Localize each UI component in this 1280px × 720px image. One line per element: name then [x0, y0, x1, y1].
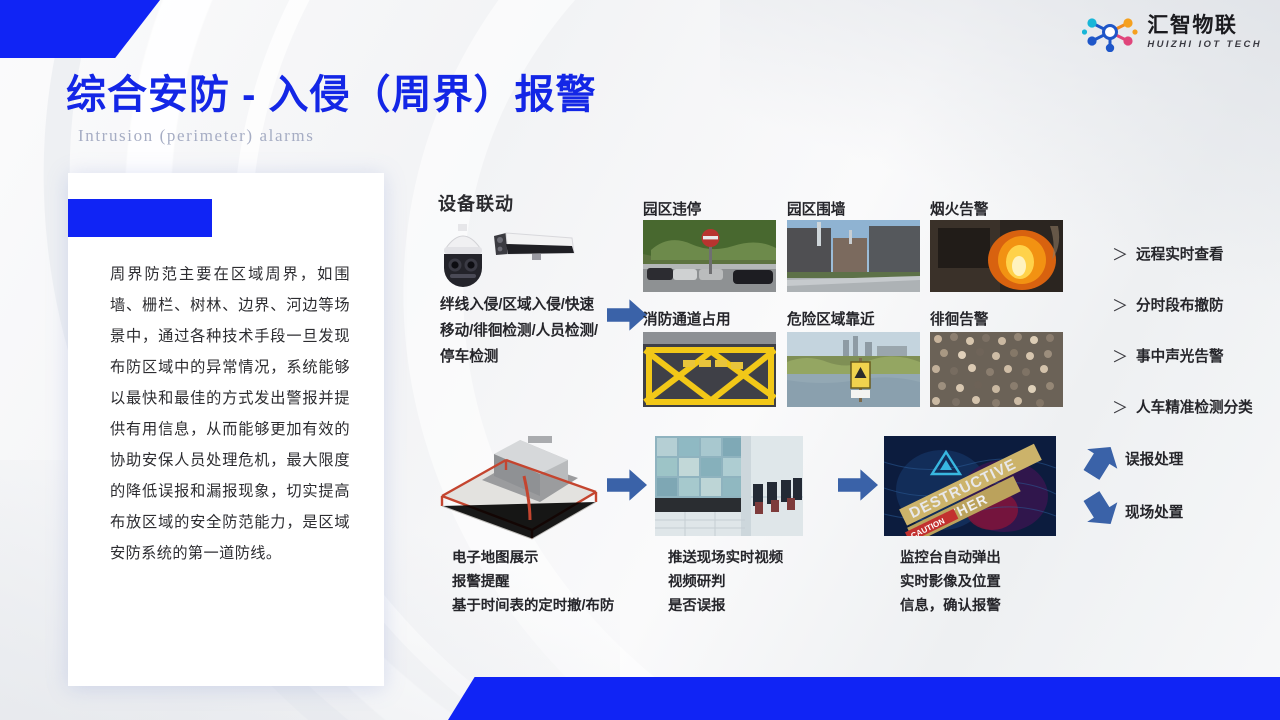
slide-canvas: 汇智物联 HUIZHI IOT TECH 综合安防 - 入侵（周界）报警 Int…	[0, 0, 1280, 720]
outcome-label-0: 误报处理	[1125, 448, 1183, 469]
device-caption: 绊线入侵/区域入侵/快速移动/徘徊检测/人员检测/停车检测	[440, 292, 606, 370]
page-subtitle: Intrusion (perimeter) alarms	[78, 126, 314, 146]
arrow-down-right-icon	[1077, 486, 1126, 534]
scenario-label-5: 徘徊告警	[930, 308, 988, 329]
chevron-right-icon: ＞	[1112, 343, 1136, 367]
scenario-image-3	[643, 332, 776, 407]
ptz-dome-camera-icon	[432, 222, 494, 300]
feature-label-2: 事中声光告警	[1136, 345, 1224, 366]
flow-arrow-right-icon	[607, 298, 647, 332]
bottom-accent-bar	[448, 677, 1280, 720]
chevron-right-icon: ＞	[1112, 292, 1136, 316]
feature-label-1: 分时段布撤防	[1136, 294, 1224, 315]
flow-caption-2: 监控台自动弹出 实时影像及位置 信息，确认报警	[900, 546, 1001, 618]
scenario-image-2	[930, 220, 1063, 292]
brand-name-en: HUIZHI IOT TECH	[1147, 40, 1262, 50]
device-section-title: 设备联动	[438, 190, 514, 216]
card-body-text: 周界防范主要在区域周界，如围墙、栅栏、树林、边界、河边等场景中，通过各种技术手段…	[110, 259, 350, 569]
page-title: 综合安防 - 入侵（周界）报警	[66, 62, 597, 120]
feature-label-0: 远程实时查看	[1136, 243, 1224, 264]
scenario-image-4	[787, 332, 920, 407]
scenario-image-0	[643, 220, 776, 292]
flow-caption-1: 推送现场实时视频 视频研判 是否误报	[668, 546, 783, 618]
scenario-image-5	[930, 332, 1063, 407]
chevron-right-icon: ＞	[1112, 241, 1136, 265]
feature-item-0[interactable]: ＞ 远程实时查看	[1112, 236, 1253, 270]
scenario-label-1: 园区围墙	[787, 198, 845, 219]
feature-item-2[interactable]: ＞ 事中声光告警	[1112, 338, 1253, 372]
flow-image-0	[428, 424, 608, 542]
feature-item-1[interactable]: ＞ 分时段布撤防	[1112, 287, 1253, 321]
brand-name-cn: 汇智物联	[1147, 15, 1262, 36]
flow-image-1	[655, 436, 803, 536]
feature-list: ＞ 远程实时查看 ＞ 分时段布撤防 ＞ 事中声光告警 ＞ 人车精准检测分类	[1112, 236, 1253, 440]
bullet-camera-icon	[488, 228, 584, 262]
scenario-label-2: 烟火告警	[930, 198, 988, 219]
scenario-label-3: 消防通道占用	[643, 308, 731, 329]
outcome-label-1: 现场处置	[1125, 501, 1183, 522]
scenario-label-0: 园区违停	[643, 198, 701, 219]
description-card: 周界防范主要在区域周界，如围墙、栅栏、树林、边界、河边等场景中，通过各种技术手段…	[68, 173, 384, 686]
card-badge	[68, 199, 212, 237]
top-left-accent-shape	[0, 0, 160, 58]
chevron-right-icon: ＞	[1112, 394, 1136, 418]
flow-image-2: DESTRUCTIVE WEATHER CAUTION	[884, 436, 1056, 536]
flow-arrow-right-icon-3	[838, 468, 878, 502]
molecule-node-logo-icon	[1082, 12, 1138, 52]
scenario-label-4: 危险区域靠近	[787, 308, 875, 329]
feature-label-3: 人车精准检测分类	[1136, 396, 1253, 417]
scenario-image-1	[787, 220, 920, 292]
feature-item-3[interactable]: ＞ 人车精准检测分类	[1112, 389, 1253, 423]
arrow-up-right-icon	[1077, 437, 1126, 485]
brand-logo: 汇智物联 HUIZHI IOT TECH	[1082, 12, 1262, 52]
flow-caption-0: 电子地图展示 报警提醒 基于时间表的定时撤/布防	[452, 546, 614, 618]
